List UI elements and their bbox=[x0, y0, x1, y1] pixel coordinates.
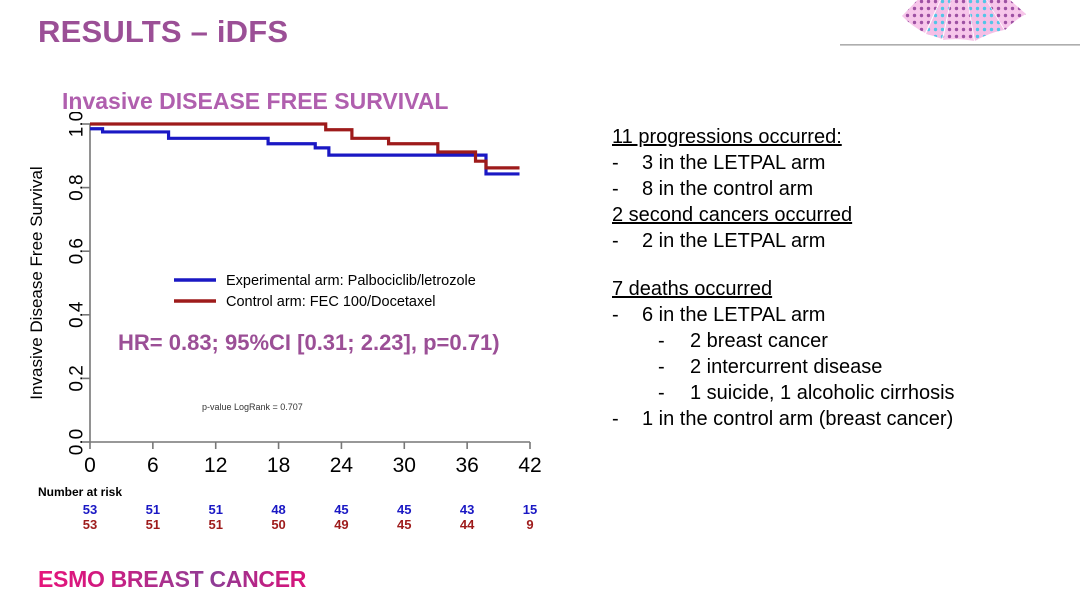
risk-value: 44 bbox=[460, 517, 474, 532]
notes-item-text: 1 suicide, 1 alcoholic cirrhosis bbox=[690, 382, 955, 405]
notes-item: -8 in the control arm bbox=[612, 178, 1072, 201]
risk-value: 51 bbox=[146, 502, 160, 517]
risk-value: 49 bbox=[334, 517, 348, 532]
x-tick-label: 42 bbox=[518, 454, 541, 477]
bullet-dash: - bbox=[658, 382, 690, 405]
y-tick-label: 1.0 bbox=[67, 112, 88, 137]
risk-value: 51 bbox=[146, 517, 160, 532]
notes-item: -2 in the LETPAL arm bbox=[612, 230, 1072, 253]
x-tick-label: 0 bbox=[84, 454, 96, 477]
x-tick-label: 36 bbox=[455, 454, 478, 477]
y-tick-label: 0.6 bbox=[67, 238, 88, 264]
legend-label-2: Control arm: FEC 100/Docetaxel bbox=[226, 294, 436, 310]
notes-item-text: 1 in the control arm (breast cancer) bbox=[642, 408, 953, 431]
x-tick-label: 30 bbox=[393, 454, 416, 477]
risk-value: 15 bbox=[523, 502, 537, 517]
page-title: RESULTS – iDFS bbox=[38, 14, 288, 50]
notes-item: -2 breast cancer bbox=[612, 330, 1072, 353]
slide-root: RESULTS – iDFS Invasive DISEASE FREE SUR… bbox=[0, 0, 1080, 601]
risk-value: 45 bbox=[397, 502, 411, 517]
notes-item-text: 2 breast cancer bbox=[690, 330, 828, 353]
results-notes: 11 progressions occurred:-3 in the LETPA… bbox=[612, 126, 1072, 434]
bullet-dash: - bbox=[612, 178, 642, 201]
risk-value: 43 bbox=[460, 502, 474, 517]
y-tick-label: 0.8 bbox=[67, 174, 88, 200]
notes-item: -2 intercurrent disease bbox=[612, 356, 1072, 379]
x-tick-label: 6 bbox=[147, 454, 159, 477]
risk-value: 48 bbox=[271, 502, 285, 517]
y-axis-title: Invasive Disease Free Survival bbox=[27, 166, 46, 399]
notes-item: -6 in the LETPAL arm bbox=[612, 304, 1072, 327]
risk-value: 51 bbox=[208, 517, 222, 532]
y-tick-label: 0.4 bbox=[67, 301, 88, 328]
km-plot-svg: 0.00.20.40.60.81.0Invasive Disease Free … bbox=[24, 112, 544, 482]
esmo-breast-cancer-logo: ESMO BREAST CANCER bbox=[38, 566, 306, 593]
km-chart: 0.00.20.40.60.81.0Invasive Disease Free … bbox=[24, 112, 544, 482]
notes-heading: 2 second cancers occurred bbox=[612, 204, 1072, 227]
risk-value: 53 bbox=[83, 517, 97, 532]
bullet-dash: - bbox=[658, 356, 690, 379]
notes-heading: 11 progressions occurred: bbox=[612, 126, 1072, 149]
notes-item: -1 in the control arm (breast cancer) bbox=[612, 408, 1072, 431]
bullet-dash: - bbox=[612, 152, 642, 175]
logrank-annotation: p-value LogRank = 0.707 bbox=[202, 402, 303, 412]
notes-item-text: 6 in the LETPAL arm bbox=[642, 304, 825, 327]
notes-item-text: 2 intercurrent disease bbox=[690, 356, 882, 379]
risk-value: 9 bbox=[526, 517, 533, 532]
bullet-dash: - bbox=[612, 230, 642, 253]
chart-title: Invasive DISEASE FREE SURVIVAL bbox=[62, 88, 448, 115]
risk-value: 45 bbox=[334, 502, 348, 517]
number-at-risk-title: Number at risk bbox=[38, 485, 538, 499]
bullet-dash: - bbox=[612, 304, 642, 327]
risk-value: 53 bbox=[83, 502, 97, 517]
notes-heading: 7 deaths occurred bbox=[612, 278, 1072, 301]
notes-item: -1 suicide, 1 alcoholic cirrhosis bbox=[612, 382, 1072, 405]
risk-value: 45 bbox=[397, 517, 411, 532]
bullet-dash: - bbox=[658, 330, 690, 353]
x-tick-label: 18 bbox=[267, 454, 290, 477]
decorative-fan-graphic bbox=[840, 0, 1080, 46]
notes-item-text: 2 in the LETPAL arm bbox=[642, 230, 825, 253]
notes-item: -3 in the LETPAL arm bbox=[612, 152, 1072, 175]
risk-row: 535151504945449 bbox=[38, 517, 538, 532]
notes-item-text: 3 in the LETPAL arm bbox=[642, 152, 825, 175]
y-tick-label: 0.2 bbox=[67, 365, 88, 391]
notes-spacer bbox=[612, 256, 1072, 278]
legend-label-1: Experimental arm: Palbociclib/letrozole bbox=[226, 273, 476, 289]
x-tick-label: 24 bbox=[330, 454, 354, 477]
risk-row: 5351514845454315 bbox=[38, 502, 538, 517]
hazard-ratio-annotation: HR= 0.83; 95%CI [0.31; 2.23], p=0.71) bbox=[118, 330, 500, 356]
fan-svg bbox=[840, 0, 1080, 46]
risk-value: 50 bbox=[271, 517, 285, 532]
bullet-dash: - bbox=[612, 408, 642, 431]
x-tick-label: 12 bbox=[204, 454, 227, 477]
number-at-risk-table: Number at risk 5351514845454315535151504… bbox=[38, 485, 538, 532]
notes-item-text: 8 in the control arm bbox=[642, 178, 813, 201]
risk-value: 51 bbox=[208, 502, 222, 517]
y-tick-label: 0.0 bbox=[67, 429, 88, 455]
